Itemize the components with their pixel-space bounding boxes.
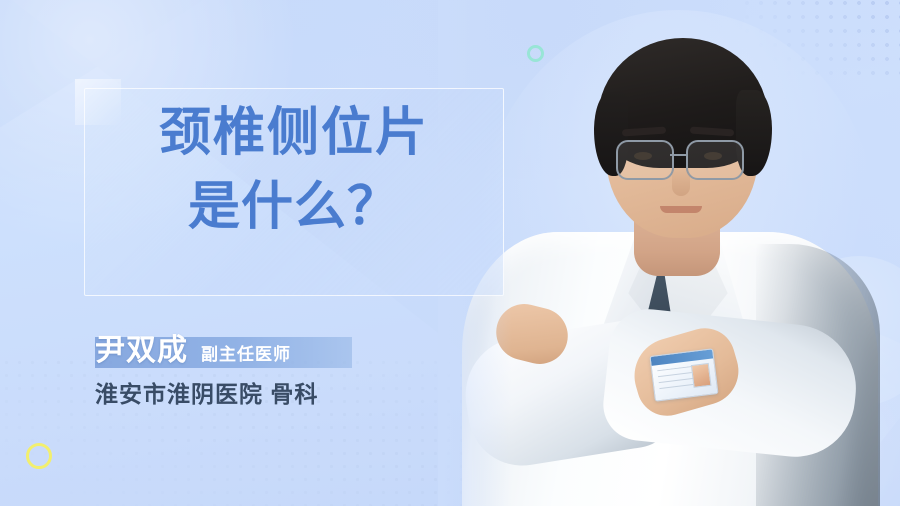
title-line-1: 颈椎侧位片 [84,96,504,170]
nose [672,166,690,196]
doctor-affiliation: 淮安市淮阴医院 骨科 [95,378,318,410]
doctor-portrait [438,0,900,506]
mouth [660,206,702,213]
yellow-ring-decoration [26,443,52,469]
video-thumbnail-card: 颈椎侧位片 是什么？ 尹双成 副主任医师 淮安市淮阴医院 骨科 [0,0,900,506]
page-title: 颈椎侧位片 是什么？ [84,96,504,244]
doctor-name-row: 尹双成 副主任医师 [95,330,291,372]
eyeglasses-lens-left [616,140,674,180]
title-line-2: 是什么？ [84,170,504,244]
doctor-rank: 副主任医师 [201,334,291,376]
doctor-name: 尹双成 [95,330,188,372]
hospital-id-badge [649,348,718,401]
badge-text-lines [657,366,693,392]
badge-photo [691,363,712,388]
eyeglasses-bridge [670,154,686,156]
eyeglasses-lens-right [686,140,744,180]
